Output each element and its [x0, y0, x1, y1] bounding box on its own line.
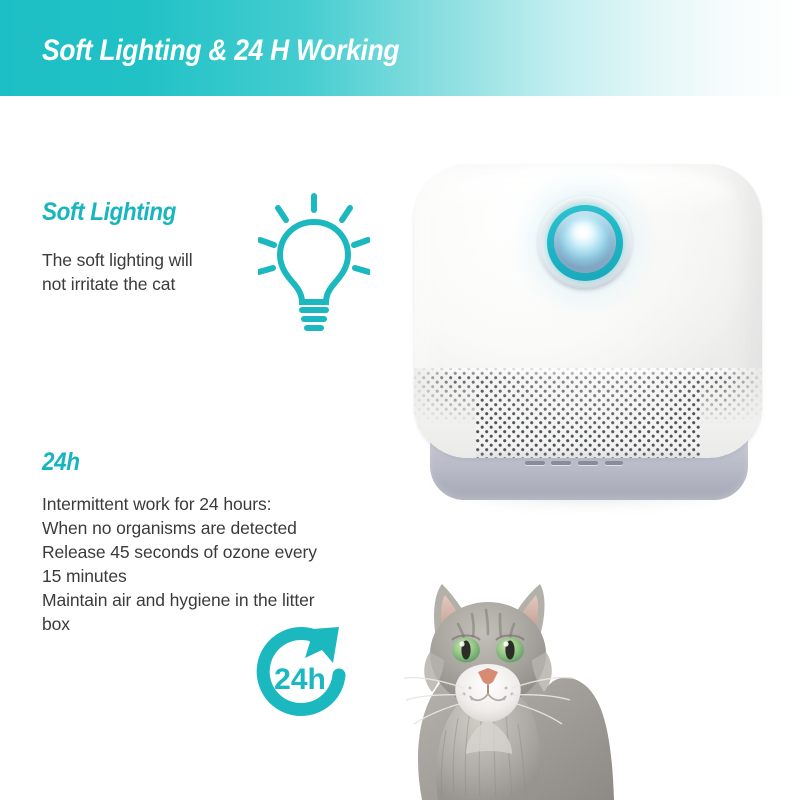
- 24h-heading: 24h: [42, 448, 80, 477]
- indicator-specular-highlight: [568, 220, 596, 242]
- 24h-body-text: Intermittent work for 24 hours: When no …: [42, 492, 402, 636]
- gray-tabby-cat-photo: [400, 568, 650, 800]
- 24h-icon-label: 24h: [274, 663, 326, 696]
- cat-right-eye-glint: [503, 641, 508, 646]
- vent-corner-right: [700, 368, 762, 458]
- soft-lighting-heading: Soft Lighting: [42, 198, 176, 227]
- banner-title: Soft Lighting & 24 H Working: [42, 34, 399, 68]
- cat-left-eye-glint: [459, 641, 464, 646]
- header-banner: Soft Lighting & 24 H Working: [0, 0, 800, 96]
- perforated-vent-panel: [414, 368, 762, 458]
- ozone-air-purifier-device: [408, 160, 768, 520]
- 24h-cycle-icon: 24h: [243, 617, 359, 734]
- vent-corner-left: [414, 368, 476, 458]
- lightbulb-icon: [258, 192, 370, 337]
